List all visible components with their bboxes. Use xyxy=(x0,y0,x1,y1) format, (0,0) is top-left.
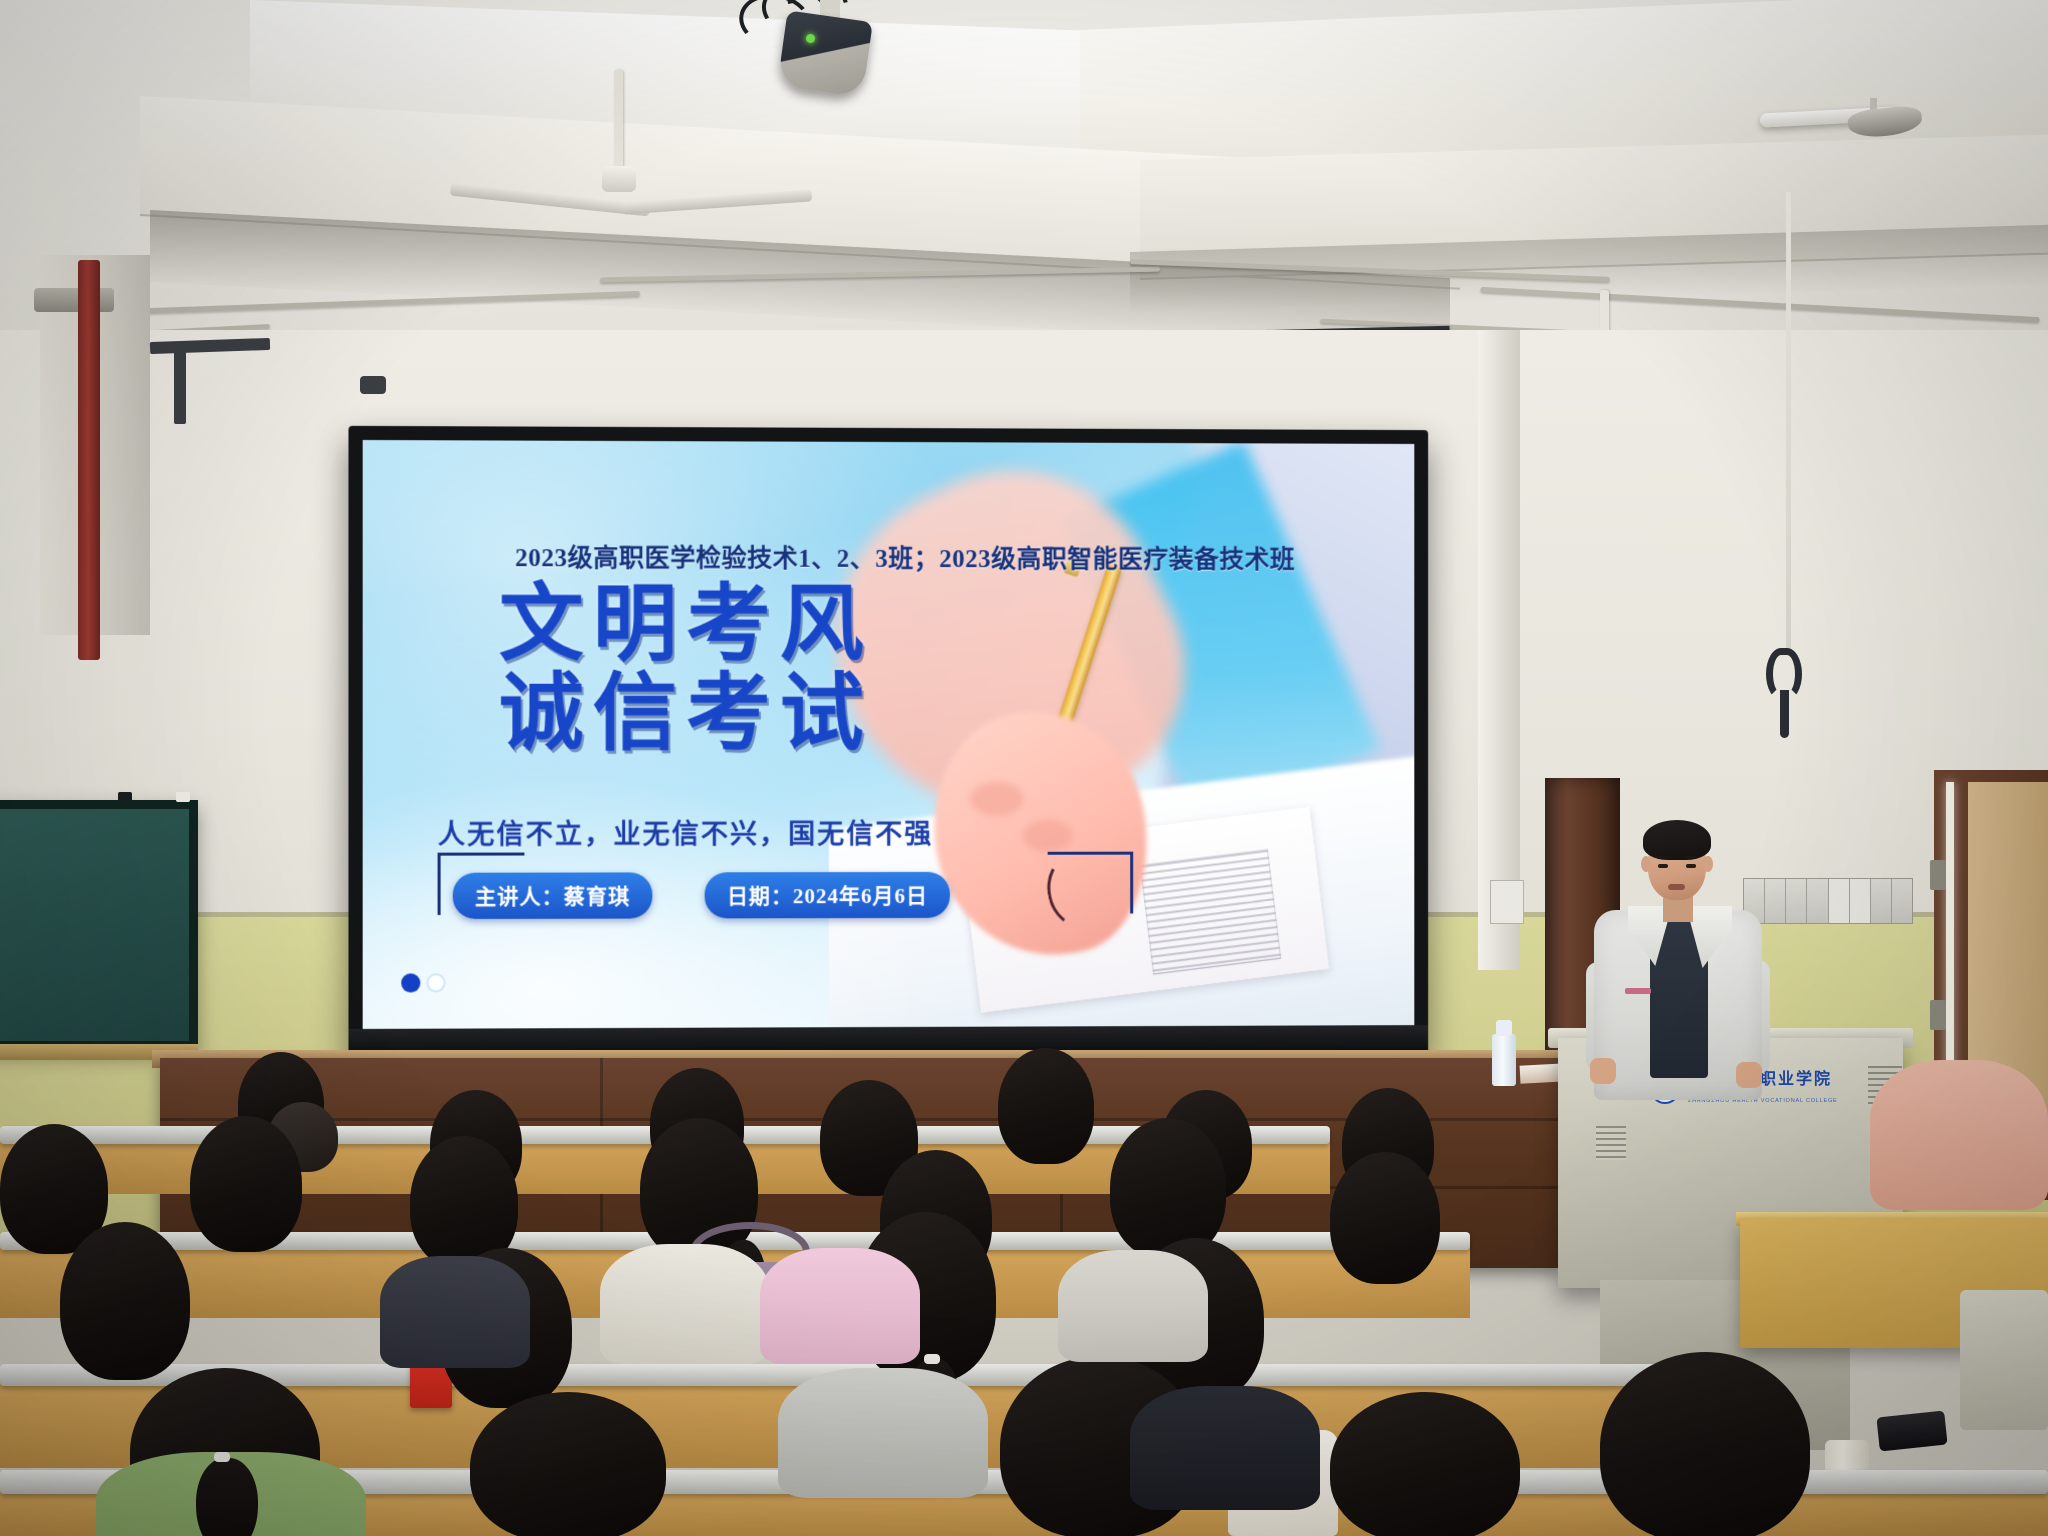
door-hinge-icon xyxy=(1930,1000,1946,1030)
audience-head xyxy=(1110,1118,1226,1258)
presenter-mouth xyxy=(1668,884,1685,890)
presenter-brow xyxy=(1657,856,1670,859)
red-standpipe xyxy=(78,260,100,660)
audience-body xyxy=(760,1248,920,1364)
outlet-cell xyxy=(1850,879,1871,923)
board-clip-icon xyxy=(118,792,132,802)
hair-tie xyxy=(924,1354,940,1364)
hand-sanitizer-bottle xyxy=(1492,1034,1516,1086)
sanitizer-pump-icon xyxy=(1496,1020,1512,1036)
pipe-bracket xyxy=(34,288,114,312)
chalkboard xyxy=(0,800,198,1050)
audience-body xyxy=(1870,1060,2048,1210)
hair-tie xyxy=(214,1452,230,1462)
presenter-hand xyxy=(1736,1062,1762,1088)
audience-body xyxy=(1130,1386,1320,1510)
outlet-cell xyxy=(1871,879,1892,923)
slide-page-indicator[interactable] xyxy=(401,973,446,992)
wall-bracket xyxy=(174,344,186,424)
audience-head xyxy=(60,1222,190,1380)
page-dot-active[interactable] xyxy=(401,973,420,992)
audience-body xyxy=(778,1368,988,1498)
wall-column xyxy=(1478,330,1520,970)
outlet-cell xyxy=(1829,879,1850,923)
slide-title-line-1: 文明考风 xyxy=(411,581,961,670)
photo-knuckle xyxy=(1023,819,1073,851)
presenter-eye xyxy=(1686,864,1696,868)
presenter-hair xyxy=(1643,820,1711,860)
page-dot-inactive[interactable] xyxy=(426,973,445,992)
photo-answer-sheet-lines xyxy=(1140,849,1281,975)
presenter-eye xyxy=(1658,864,1668,868)
side-chair xyxy=(1960,1290,2048,1430)
light-switch[interactable] xyxy=(1490,880,1524,924)
presenter-pocket-tag xyxy=(1625,988,1651,994)
wall-bracket xyxy=(360,376,386,394)
board-clip-icon xyxy=(176,792,190,802)
audience-head xyxy=(190,1116,302,1252)
lecture-hall-photo: 2023级高职医学检验技术1、2、3班；2023级高职智能医疗装备技术班 文明考… xyxy=(0,0,2048,1536)
presenter-ear xyxy=(1703,856,1713,872)
outlet-cell xyxy=(1807,879,1828,923)
slide-title-line-2: 诚信考试 xyxy=(411,670,961,759)
audience-head xyxy=(1600,1352,1810,1536)
audience-head xyxy=(998,1048,1094,1164)
slide-canvas: 2023级高职医学检验技术1、2、3班；2023级高职智能医疗装备技术班 文明考… xyxy=(363,440,1415,1029)
slide-badge-row: 主讲人：蔡育琪 日期：2024年6月6日 xyxy=(427,872,976,919)
hook-icon xyxy=(1780,690,1789,738)
camera-status-led-icon xyxy=(806,34,815,43)
presenter-ear xyxy=(1641,856,1651,872)
audience-body xyxy=(600,1244,770,1364)
outlet-cell xyxy=(1786,879,1807,923)
hanging-cord xyxy=(1786,192,1791,652)
wall-outlet-panel[interactable] xyxy=(1743,878,1913,924)
door-hinge-icon xyxy=(1930,860,1946,890)
audience-head xyxy=(1330,1152,1440,1284)
audience-body xyxy=(1058,1250,1208,1362)
slide-title: 文明考风 诚信考试 xyxy=(411,581,961,758)
ceiling-camera-icon xyxy=(777,10,873,97)
slide-motto: 人无信不立，业无信不兴，国无信不强 xyxy=(421,812,950,852)
presenter-brow xyxy=(1684,856,1697,859)
projection-screen[interactable]: 2023级高职医学检验技术1、2、3班；2023级高职智能医疗装备技术班 文明考… xyxy=(348,426,1428,1055)
phone-on-bench[interactable] xyxy=(1876,1411,1947,1452)
presenter-hand xyxy=(1590,1058,1616,1084)
podium-vent xyxy=(1596,1126,1626,1160)
audience-head xyxy=(1330,1392,1520,1536)
outlet-cell xyxy=(1765,879,1786,923)
slide-header-classes: 2023级高职医学检验技术1、2、3班；2023级高职智能医疗装备技术班 xyxy=(363,537,1415,575)
audience-ponytail xyxy=(196,1458,258,1536)
outlet-cell xyxy=(1892,879,1912,923)
audience-body xyxy=(380,1256,530,1368)
audience-head xyxy=(470,1392,666,1536)
badge-speaker: 主讲人：蔡育琪 xyxy=(453,872,653,919)
badge-date: 日期：2024年6月6日 xyxy=(705,872,950,919)
